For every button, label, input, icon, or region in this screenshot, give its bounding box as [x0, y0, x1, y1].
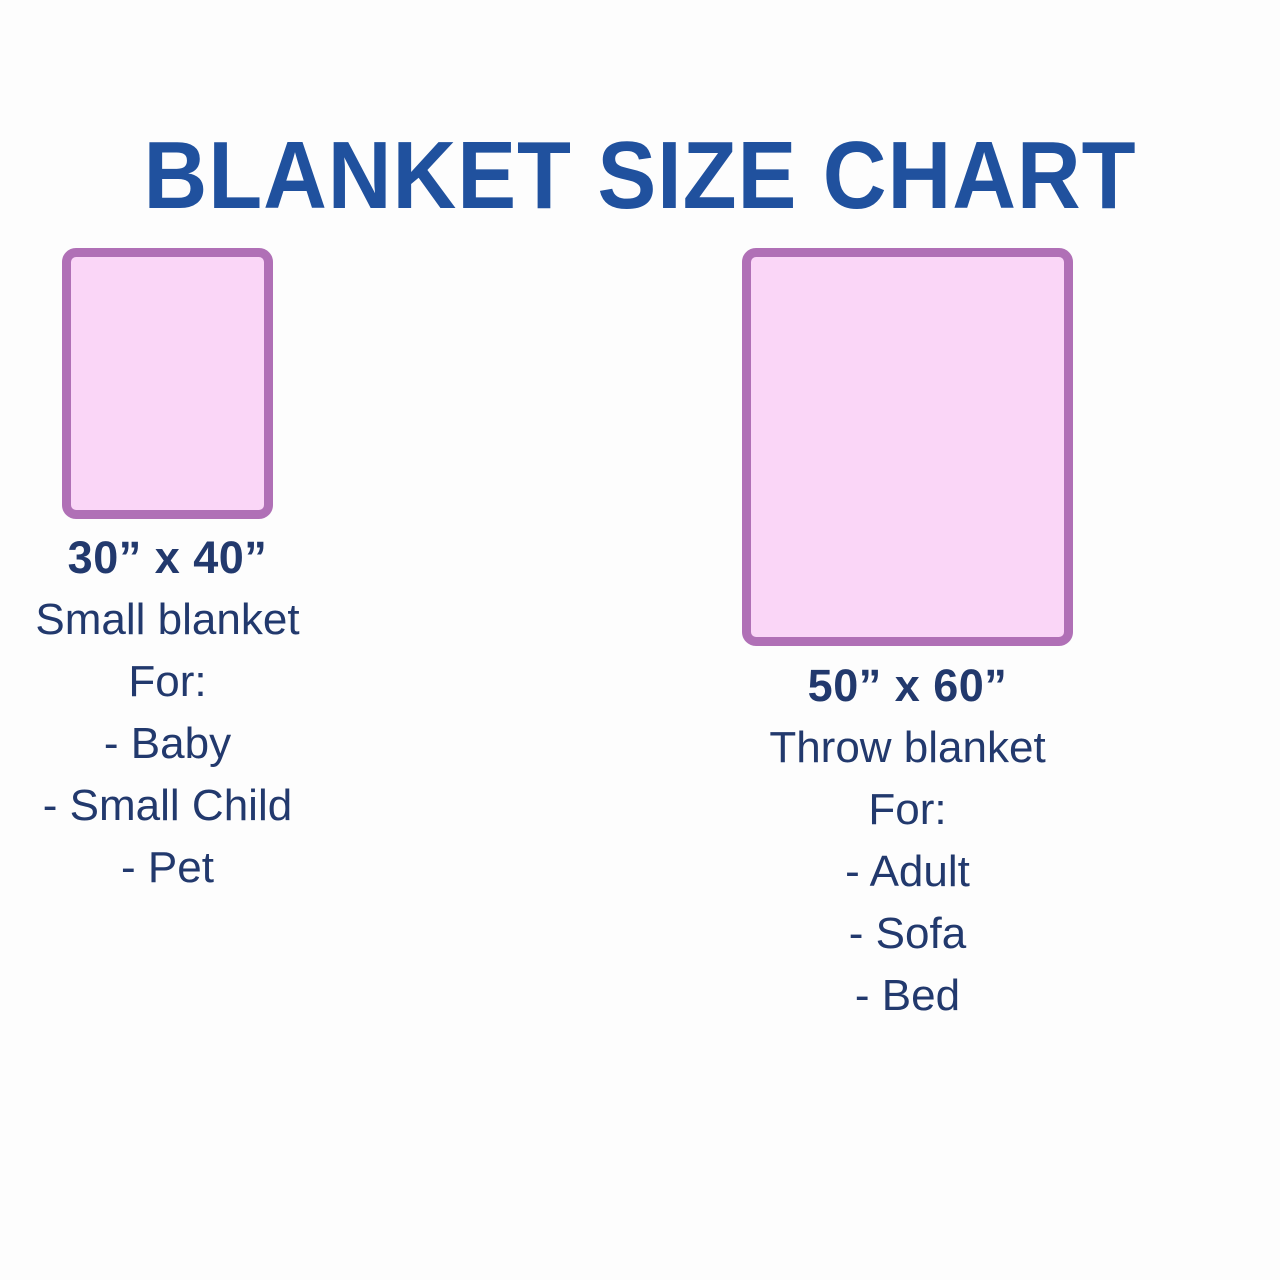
for-label-small: For: [0, 651, 335, 713]
size-column-small-text: 30” x 40” Small blanket For: - Baby - Sm… [0, 527, 335, 899]
use-list-throw: - Adult - Sofa - Bed [720, 841, 1095, 1027]
dimension-label-throw: 50” x 60” [720, 655, 1095, 717]
blanket-name-throw: Throw blanket [720, 717, 1095, 779]
use-item: - Small Child [0, 775, 335, 837]
size-column-throw-text: 50” x 60” Throw blanket For: - Adult - S… [720, 655, 1095, 1027]
use-item: - Sofa [720, 903, 1095, 965]
dimension-label-small: 30” x 40” [0, 527, 335, 589]
use-list-small: - Baby - Small Child - Pet [0, 713, 335, 899]
blanket-size-chart: BLANKET SIZE CHART 30” x 40” Small blank… [0, 0, 1280, 1280]
for-label-throw: For: [720, 779, 1095, 841]
use-item: - Baby [0, 713, 335, 775]
blanket-swatch-small [62, 248, 273, 519]
page-title: BLANKET SIZE CHART [51, 128, 1229, 224]
use-item: - Bed [720, 965, 1095, 1027]
use-item: - Adult [720, 841, 1095, 903]
blanket-swatch-throw [742, 248, 1073, 646]
blanket-name-small: Small blanket [0, 589, 335, 651]
use-item: - Pet [0, 837, 335, 899]
